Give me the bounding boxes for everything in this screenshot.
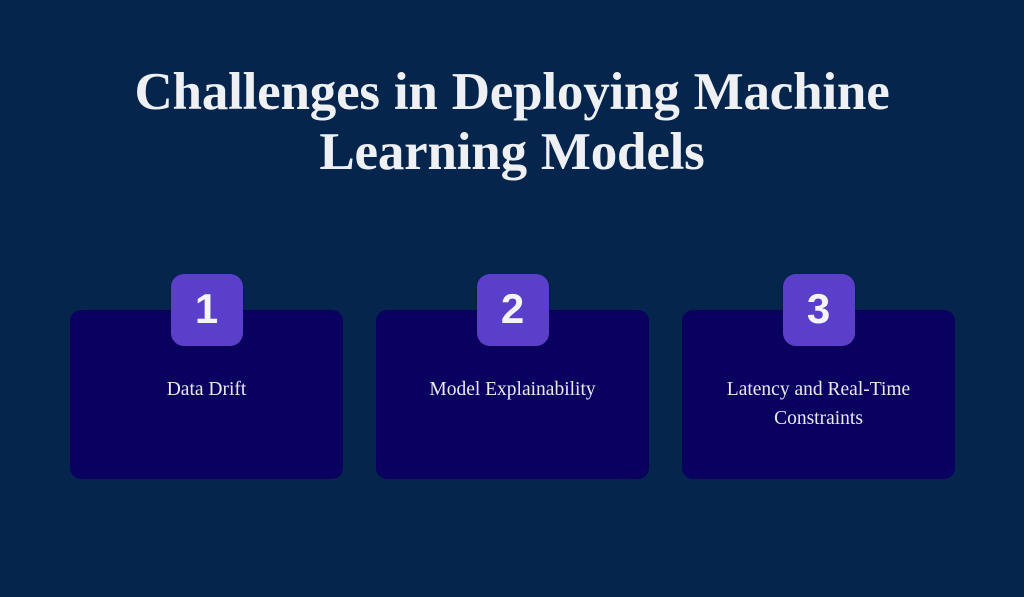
title-block: Challenges in Deploying Machine Learning… bbox=[62, 62, 962, 182]
card-label-1: Data Drift bbox=[167, 376, 247, 405]
slide-canvas: Challenges in Deploying Machine Learning… bbox=[0, 0, 1024, 597]
number-badge-label-3: 3 bbox=[807, 288, 830, 330]
number-badge-2: 2 bbox=[477, 274, 549, 346]
number-badge-3: 3 bbox=[783, 274, 855, 346]
challenge-card-2[interactable]: 2 Model Explainability bbox=[376, 274, 649, 479]
number-badge-label-1: 1 bbox=[195, 288, 218, 330]
card-label-3: Latency and Real-Time Constraints bbox=[711, 376, 926, 433]
challenge-card-3[interactable]: 3 Latency and Real-Time Constraints bbox=[682, 274, 955, 479]
cards-row: 1 Data Drift 2 Model Explainability 3 La… bbox=[70, 274, 955, 479]
page-title: Challenges in Deploying Machine Learning… bbox=[62, 62, 962, 182]
number-badge-1: 1 bbox=[171, 274, 243, 346]
card-label-2: Model Explainability bbox=[429, 376, 595, 405]
number-badge-label-2: 2 bbox=[501, 288, 524, 330]
challenge-card-1[interactable]: 1 Data Drift bbox=[70, 274, 343, 479]
